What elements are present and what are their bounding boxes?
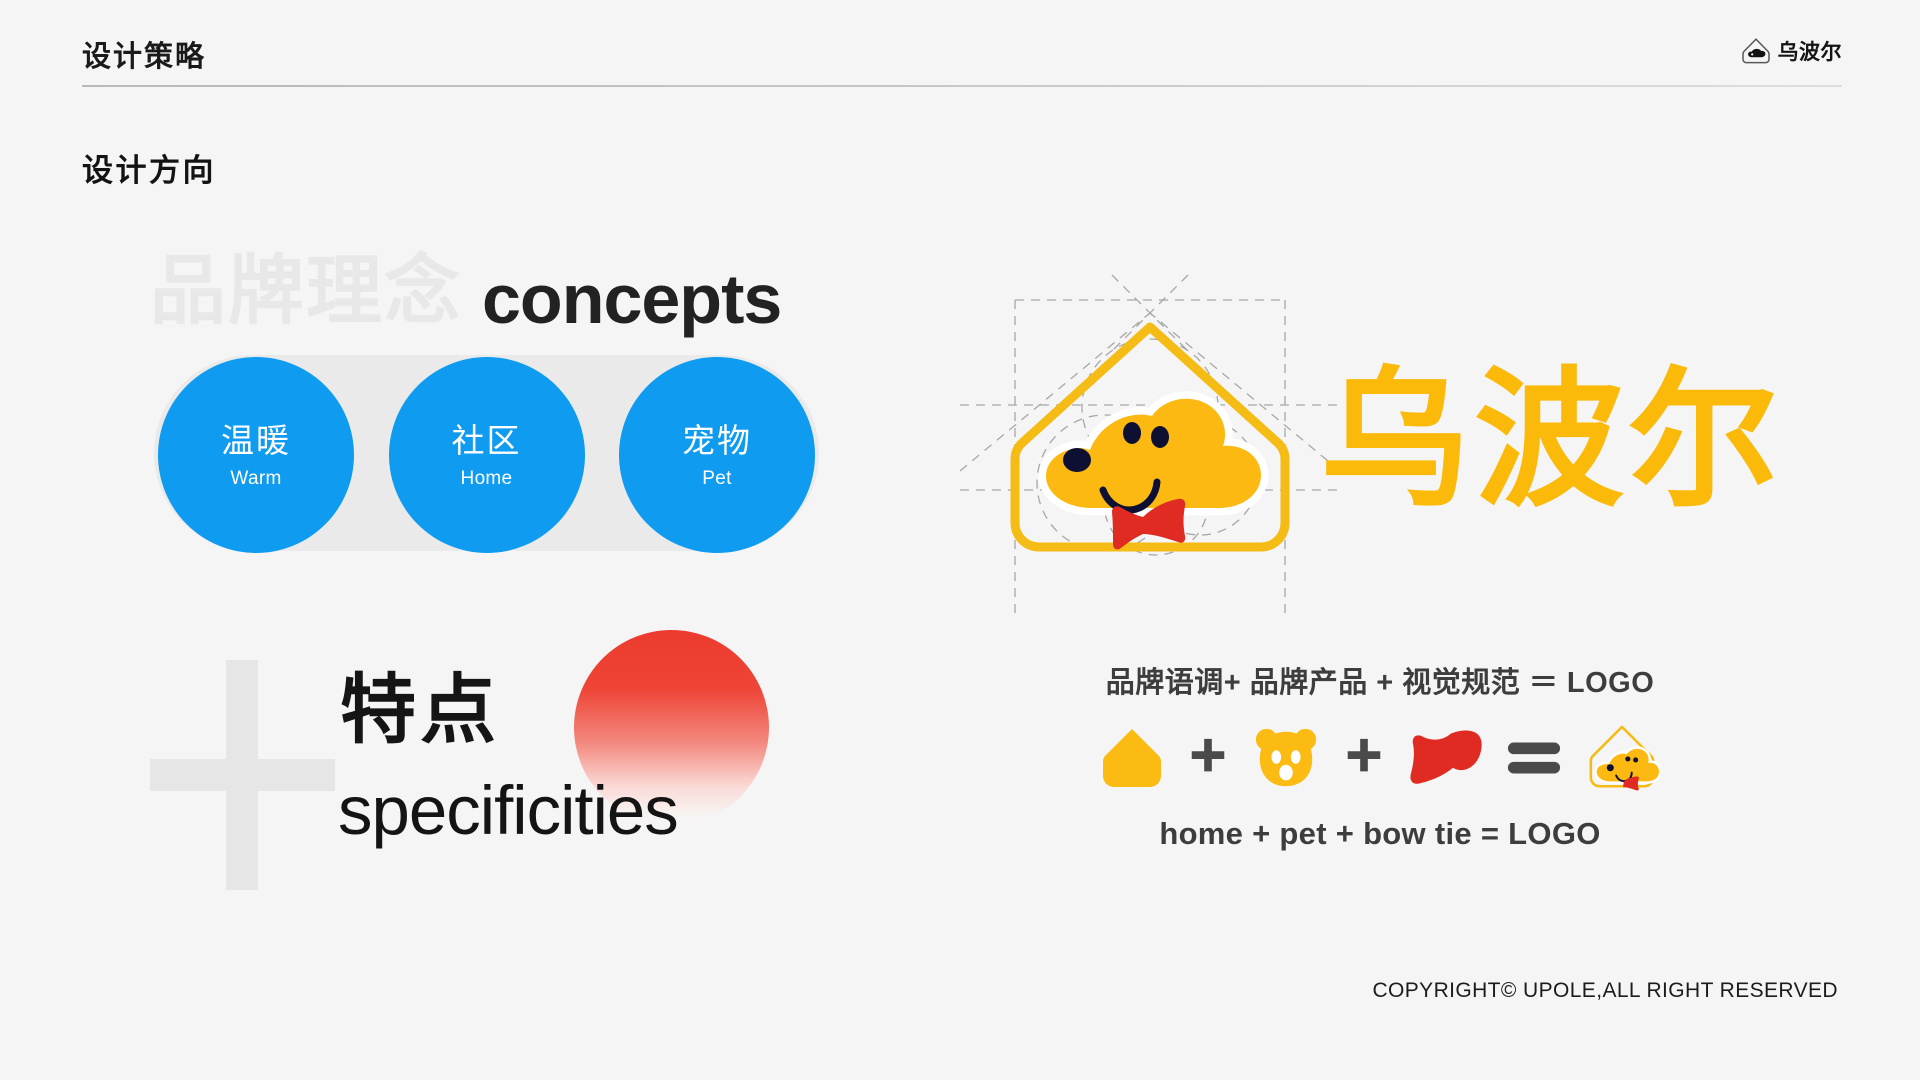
concept-label-en: Home [461,468,513,490]
concept-label-cn: 社区 [452,421,522,461]
concept-label-cn: 温暖 [221,421,291,461]
concepts-watermark: 品牌理念 [150,250,462,334]
equals-icon [1506,738,1562,778]
plus-horizontal-bar [150,759,335,791]
formula-line-cn: 品牌语调+ 品牌产品 + 视觉规范 ＝ LOGO [1050,665,1710,701]
specificities-block: 特点 specificities [150,630,850,920]
plus-icon [1186,736,1230,780]
logo-dog-nose [1063,448,1091,472]
formula-line-en: home + pet + bow tie = LOGO [1050,815,1710,853]
concept-label-cn: 宠物 [682,421,752,461]
logo-dog-eye-right [1151,426,1169,448]
bow-tie-icon [1408,727,1484,789]
slide-root: 设计策略 乌波尔 设计方向 品牌理念 concepts 温暖 Warm [0,0,1920,1080]
bear-head-icon [1252,725,1320,791]
house-icon [1100,725,1164,791]
concept-label-en: Pet [702,468,731,490]
logo-construction-diagram [960,245,1340,625]
formula-icon-row [1050,718,1710,798]
plus-decoration-icon [150,660,335,890]
logo-dog-head [1046,399,1261,510]
final-logo-icon [1584,721,1660,795]
logo-wordmark: 乌波尔 [1320,355,1782,525]
concept-circle-home[interactable]: 社区 Home [389,357,585,553]
concepts-block: 品牌理念 concepts 温暖 Warm 社区 Home 宠物 Pet [150,245,830,565]
header-divider [82,85,1842,87]
concept-circle-pet[interactable]: 宠物 Pet [619,357,815,553]
concepts-title-en: concepts [482,258,781,340]
slide-header: 设计策略 乌波尔 [82,40,1842,92]
logo-dog-eye-left [1123,422,1141,444]
specificities-title-cn: 特点 [340,668,500,754]
house-dog-logo-icon [1741,37,1771,65]
concept-circle-row: 温暖 Warm 社区 Home 宠物 Pet [154,330,819,580]
concept-circle-warm[interactable]: 温暖 Warm [158,357,354,553]
page-title: 设计策略 [82,40,206,74]
brand-lockup: 乌波尔 [1741,36,1843,66]
specificities-title-en: specificities [338,770,678,852]
footer-copyright: COPYRIGHT© UPOLE,ALL RIGHT RESERVED [1372,978,1838,1004]
concept-label-en: Warm [230,468,281,490]
brand-name: 乌波尔 [1778,36,1843,66]
plus-icon [1342,736,1386,780]
section-heading: 设计方向 [82,145,216,190]
